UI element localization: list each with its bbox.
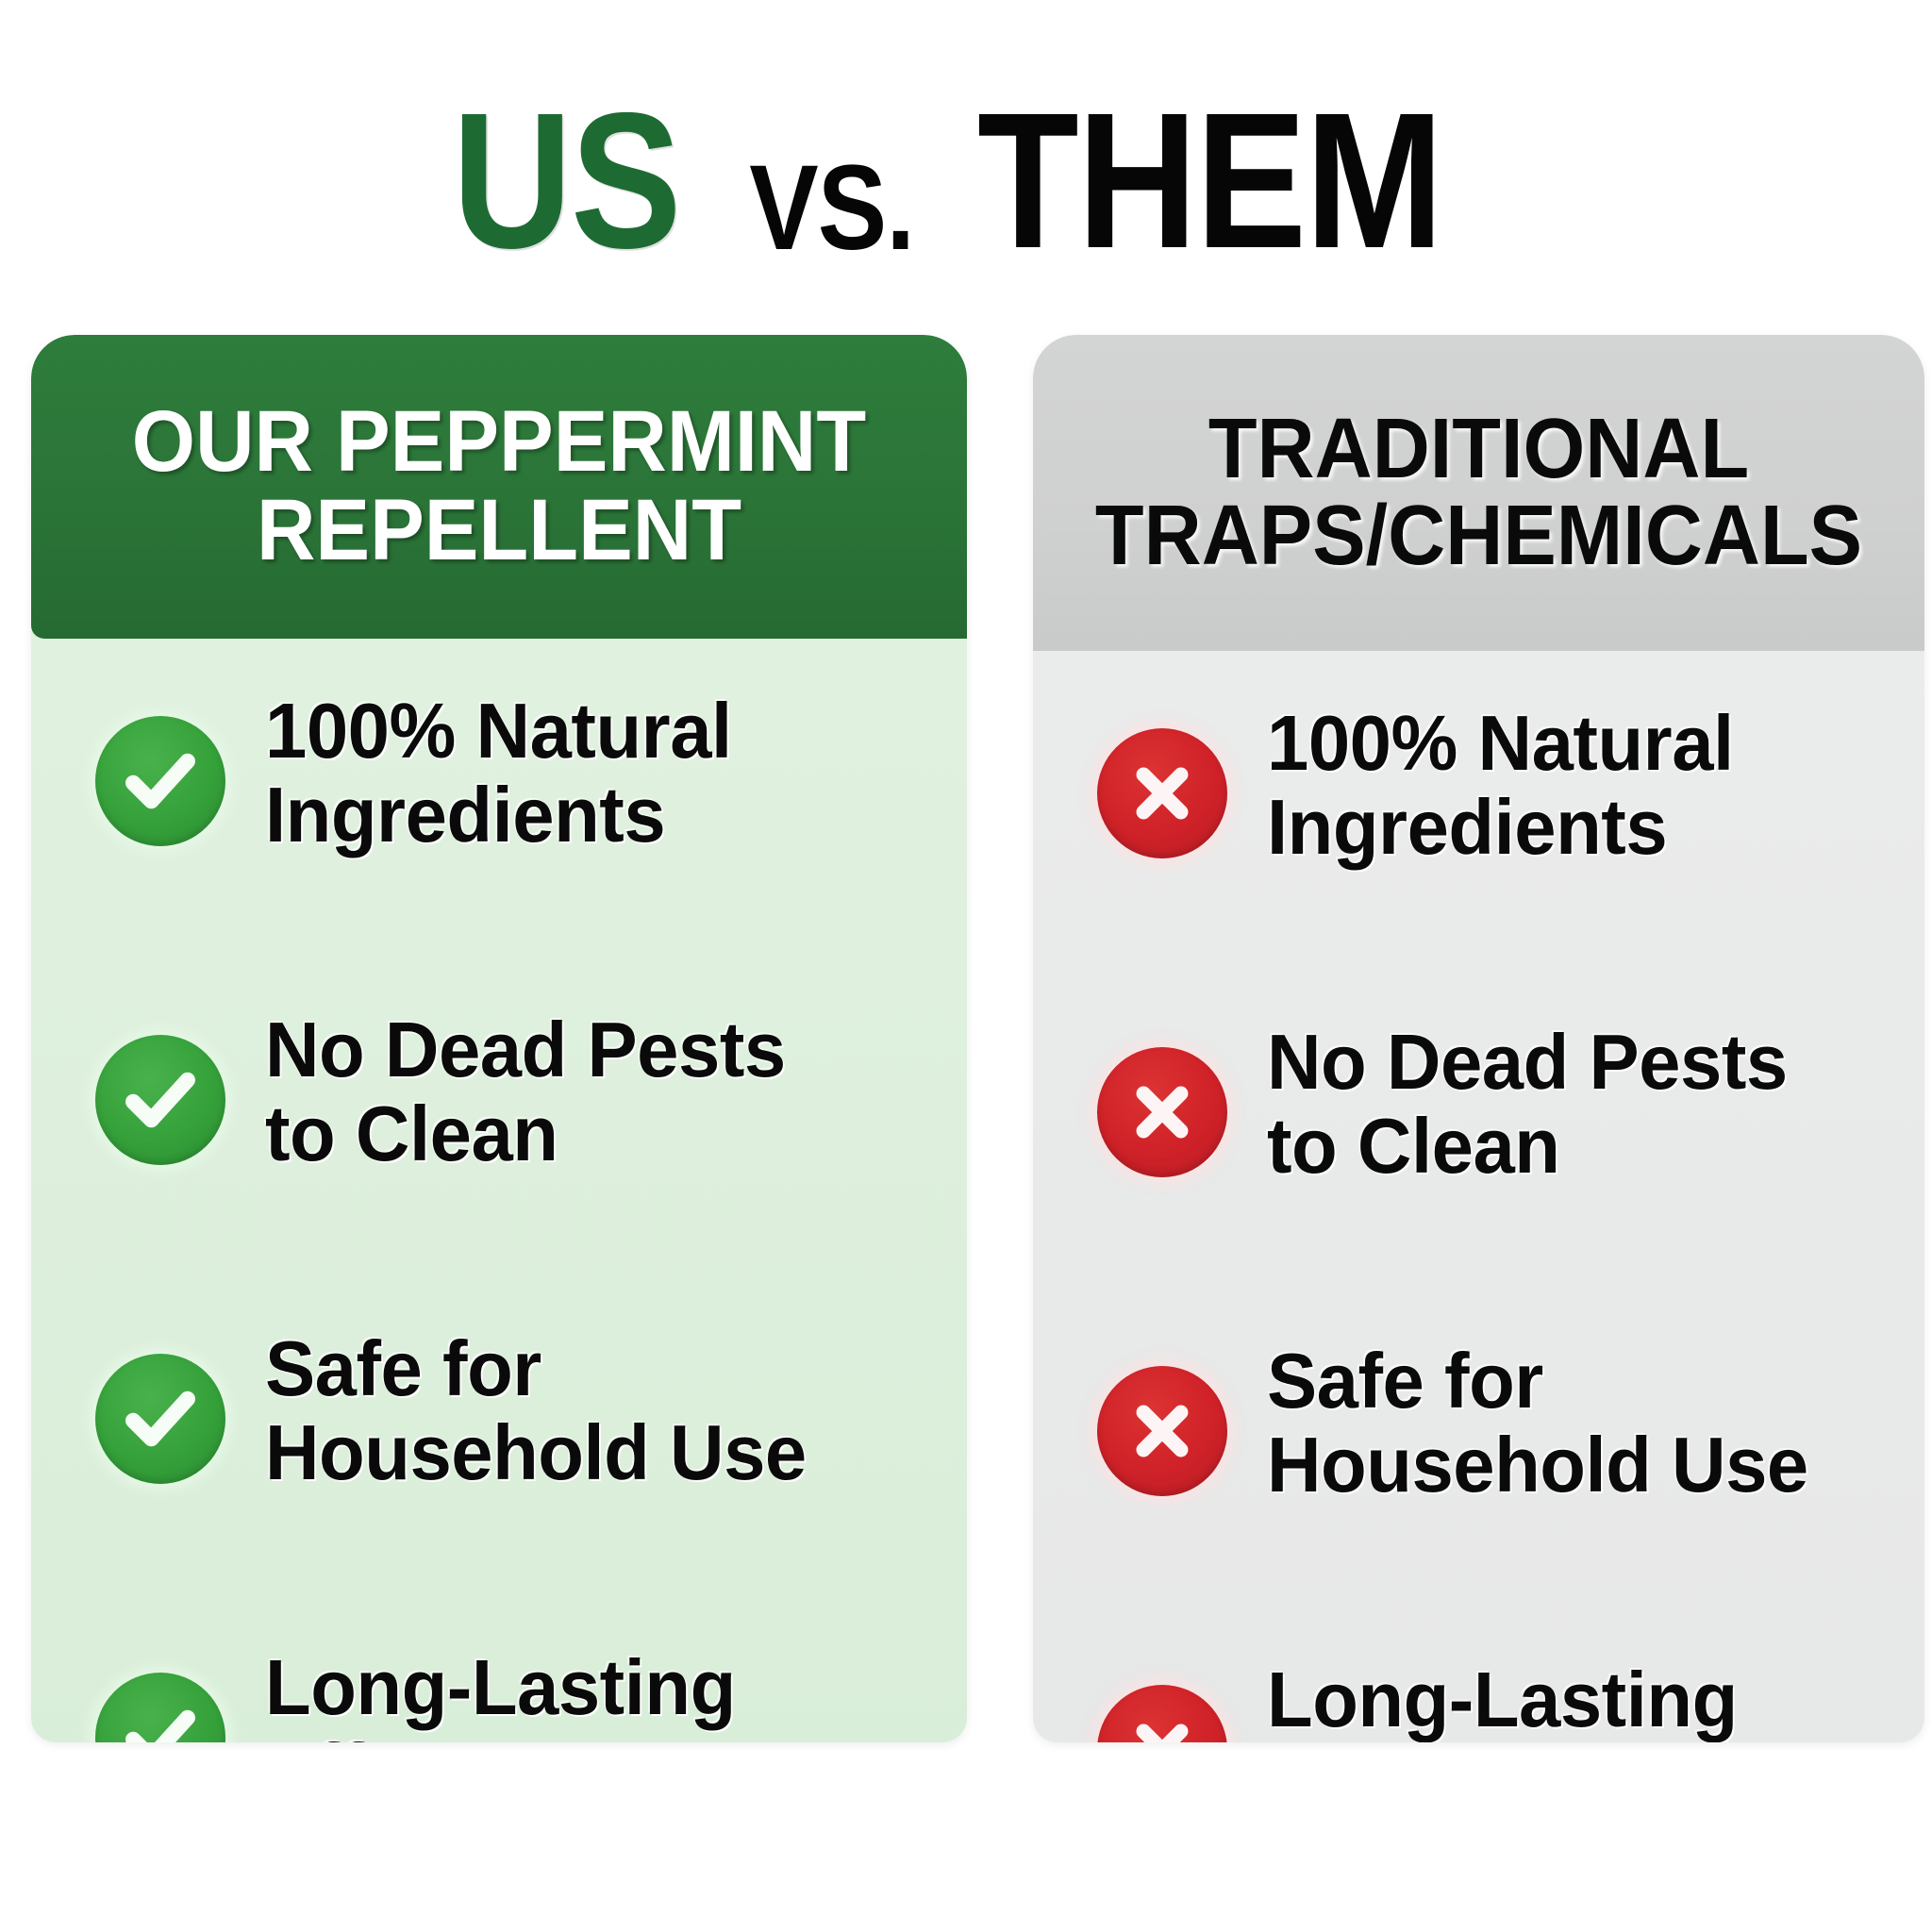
feature-list-traditional-traps: 100% Natural Ingredients No Dead Pests t…	[1033, 677, 1924, 1742]
card-our-repellent: OUR PEPPERMINT REPELLENT 100% Natural In…	[31, 335, 967, 1742]
list-item: 100% Natural Ingredients	[90, 665, 967, 984]
list-item: 100% Natural Ingredients	[1091, 677, 1924, 996]
title-vs-word: VS.	[750, 151, 915, 266]
card-traditional-traps: TRADITIONAL TRAPS/CHEMICALS 100% Natural…	[1033, 335, 1924, 1742]
list-item: No Dead Pests to Clean	[90, 984, 967, 1303]
list-item: No Dead Pests to Clean	[1091, 996, 1924, 1315]
check-icon	[90, 710, 231, 852]
list-item: Safe for Household Use	[90, 1303, 967, 1622]
list-item-label: 100% Natural Ingredients	[265, 665, 732, 858]
cross-icon	[1091, 723, 1233, 864]
check-icon	[90, 1348, 231, 1490]
list-item-label: Safe for Household Use	[1267, 1315, 1808, 1507]
list-item-label: Long-Lasting Effect	[1267, 1634, 1738, 1742]
cross-icon	[1091, 1679, 1233, 1742]
check-icon	[90, 1667, 231, 1742]
cross-icon	[1091, 1360, 1233, 1502]
card-header-our-repellent: OUR PEPPERMINT REPELLENT	[31, 335, 967, 639]
list-item-label: No Dead Pests to Clean	[265, 984, 786, 1176]
comparison-infographic: US VS. THEM OUR PEPPERMINT REPELLENT 100…	[0, 0, 1932, 1932]
list-item-label: No Dead Pests to Clean	[1267, 996, 1788, 1189]
list-item-label: Long-Lasting Effect	[265, 1622, 736, 1742]
title-them-word: THEM	[977, 90, 1442, 274]
card-header-label: OUR PEPPERMINT REPELLENT	[82, 398, 916, 575]
list-item: Long-Lasting Effect	[1091, 1634, 1924, 1742]
feature-list-our-repellent: 100% Natural Ingredients No Dead Pests t…	[31, 665, 967, 1742]
cross-icon	[1091, 1041, 1233, 1183]
list-item: Long-Lasting Effect	[90, 1622, 967, 1742]
check-icon	[90, 1029, 231, 1171]
list-item-label: Safe for Household Use	[265, 1303, 807, 1495]
card-header-label: TRADITIONAL TRAPS/CHEMICALS	[1083, 407, 1874, 580]
list-item-label: 100% Natural Ingredients	[1267, 677, 1734, 870]
title-us-word: US	[452, 90, 679, 274]
card-header-traditional-traps: TRADITIONAL TRAPS/CHEMICALS	[1033, 335, 1924, 651]
page-title: US VS. THEM	[0, 57, 1932, 274]
list-item: Safe for Household Use	[1091, 1315, 1924, 1634]
